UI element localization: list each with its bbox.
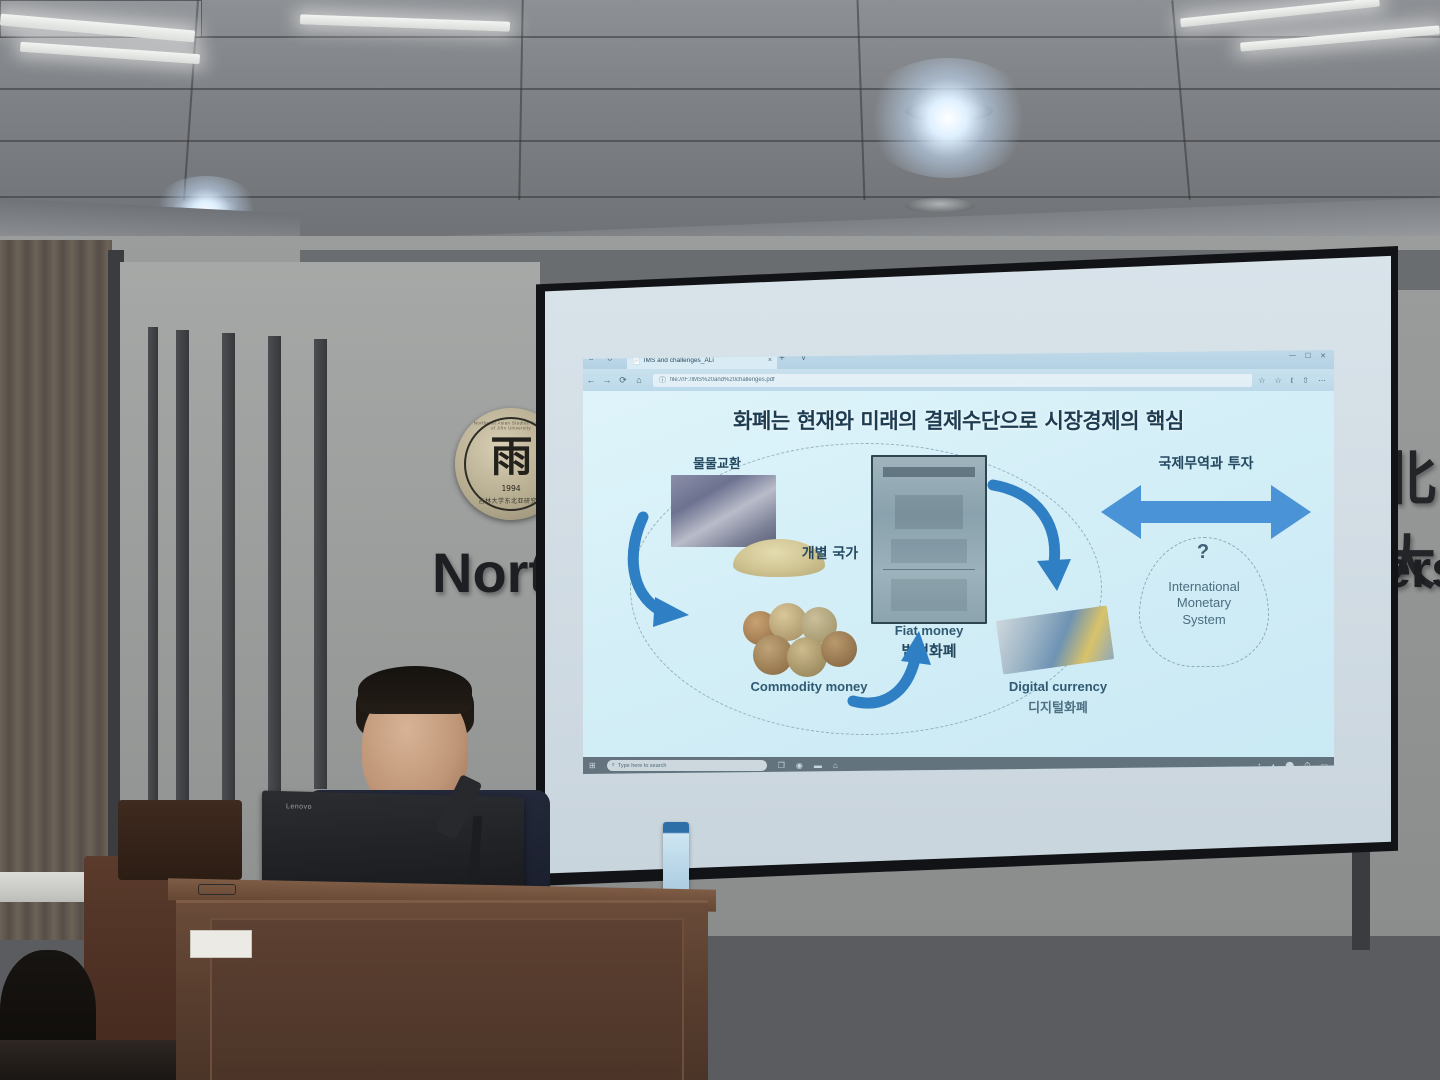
app-taskbar-icon[interactable]: ⌂ [833, 761, 838, 770]
browser-window: ⎕ ↺ 📄 IMS and challenges_ALi × + ∨ — ☐ ✕… [583, 350, 1334, 774]
podium-paper-sheet [190, 930, 252, 958]
international-trade-double-arrow [1101, 481, 1311, 543]
back-icon[interactable]: ← [583, 375, 599, 385]
search-placeholder: Type here to search [618, 763, 667, 769]
taskbar-search-box[interactable]: ⌕ Type here to search [607, 760, 767, 771]
refresh-icon[interactable]: ⟳ [615, 375, 631, 386]
browser-taskbar-icon[interactable]: ◉ [796, 761, 803, 770]
slide-title: 화폐는 현재와 미래의 결제수단으로 시장경제의 핵심 [583, 405, 1334, 435]
browser-navbar: ← → ⟳ ⌂ ⓘ file:///F:/IMS%20and%20challen… [583, 369, 1334, 391]
address-bar[interactable]: ⓘ file:///F:/IMS%20and%20challenges.pdf [653, 374, 1252, 387]
address-bar-value: file:///F:/IMS%20and%20challenges.pdf [670, 377, 775, 383]
chair-back [118, 800, 242, 880]
forward-icon[interactable]: → [599, 375, 615, 385]
more-options-icon[interactable]: ⋯ [1318, 376, 1326, 385]
conference-room-photo: Northeast Asian Studies College of Jilin… [0, 0, 1440, 1080]
file-explorer-icon[interactable]: ▬ [814, 761, 822, 770]
podium-front-panel [210, 918, 684, 1080]
question-mark: ? [1139, 541, 1267, 564]
ceiling [0, 0, 1440, 250]
wall-slat [148, 327, 158, 817]
emblem-character: 雨 [481, 436, 541, 478]
ceiling-spotlight-glow [862, 58, 1034, 178]
ceiling-light-fixture [1240, 25, 1440, 51]
foreground-table [0, 1040, 176, 1080]
home-icon[interactable]: ⌂ [631, 375, 647, 385]
barter-label: 물물교환 [657, 453, 777, 472]
flow-arrow-fiat-to-digital [977, 475, 1107, 605]
ceiling-spotlight-housing [905, 198, 975, 213]
start-icon[interactable]: ⊞ [589, 761, 596, 770]
wall-slat [176, 330, 189, 810]
share-icon[interactable]: ⇧ [1302, 376, 1309, 385]
ims-line-1: International [1129, 579, 1279, 595]
ceiling-light-fixture [20, 42, 200, 65]
presenter-hair-top [358, 666, 472, 714]
water-bottle[interactable] [663, 822, 689, 896]
ceiling-light-fixture [1180, 0, 1380, 27]
digital-currency-label-en: Digital currency [983, 679, 1133, 694]
ims-line-3: System [1129, 612, 1279, 628]
browser-toolbar-icons[interactable]: ☆ ☆ ℓ ⇧ ⋯ [1258, 376, 1334, 385]
task-view-icon[interactable]: ❐ [778, 761, 785, 770]
info-icon: ⓘ [659, 375, 666, 385]
wall-slat [222, 333, 235, 803]
eyeglasses-on-table [198, 884, 236, 895]
reading-list-icon[interactable]: ℓ [1291, 376, 1294, 385]
search-icon: ⌕ [612, 762, 615, 769]
ims-label: International Monetary System [1129, 579, 1279, 628]
flow-arrow-barter-to-commodity [625, 509, 755, 639]
close-icon[interactable]: × [768, 357, 772, 364]
favorite-star-icon[interactable]: ☆ [1258, 376, 1265, 385]
minimize-icon[interactable]: — [1289, 352, 1296, 360]
window-curtain [0, 240, 112, 940]
flow-arrow-commodity-to-fiat [845, 631, 975, 711]
window-controls[interactable]: — ☐ ✕ [1289, 352, 1326, 360]
pdf-slide: 화폐는 현재와 미래의 결제수단으로 시장경제의 핵심 물물교환 Commodi… [583, 391, 1334, 774]
close-window-icon[interactable]: ✕ [1320, 352, 1326, 360]
international-trade-label: 국제무역과 투자 [1111, 453, 1301, 473]
fiat-money-banknote-photo [871, 455, 987, 624]
ceiling-light-fixture [300, 14, 510, 31]
favorites-hub-icon[interactable]: ☆ [1275, 376, 1282, 385]
ims-line-2: Monetary [1129, 595, 1279, 611]
wall-slat [268, 336, 281, 796]
digital-currency-label-kr: 디지털화폐 [983, 697, 1133, 716]
maximize-icon[interactable]: ☐ [1305, 352, 1311, 360]
laptop-brand-label: Lenovo [286, 803, 312, 811]
